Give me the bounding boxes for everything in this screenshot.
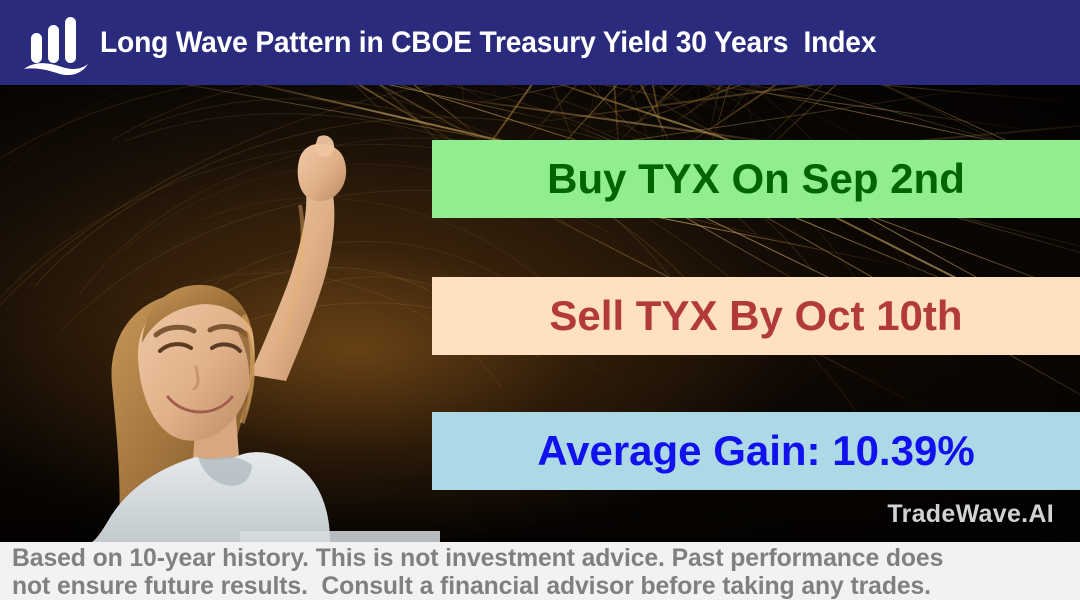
figure-thumb — [315, 135, 334, 157]
page-title: Long Wave Pattern in CBOE Treasury Yield… — [100, 28, 876, 58]
tradewave-logo-icon — [20, 11, 92, 75]
header-bar: Long Wave Pattern in CBOE Treasury Yield… — [0, 0, 1080, 85]
promo-poster: Long Wave Pattern in CBOE Treasury Yield… — [0, 0, 1080, 600]
disclaimer-line-2: not ensure future results. Consult a fin… — [12, 572, 1061, 600]
figure-table-edge — [240, 531, 440, 542]
disclaimer-footer: Based on 10-year history. This is not in… — [0, 542, 1080, 600]
callout-buy-signal: Buy TYX On Sep 2nd — [432, 140, 1080, 218]
callout-sell-signal: Sell TYX By Oct 10th — [432, 277, 1080, 355]
woman-figure — [0, 85, 440, 542]
brand-watermark: TradeWave.AI — [887, 500, 1054, 529]
disclaimer-line-1: Based on 10-year history. This is not in… — [12, 544, 1061, 572]
figure-arm — [250, 170, 334, 381]
callout-average-gain: Average Gain: 10.39% — [432, 412, 1080, 490]
